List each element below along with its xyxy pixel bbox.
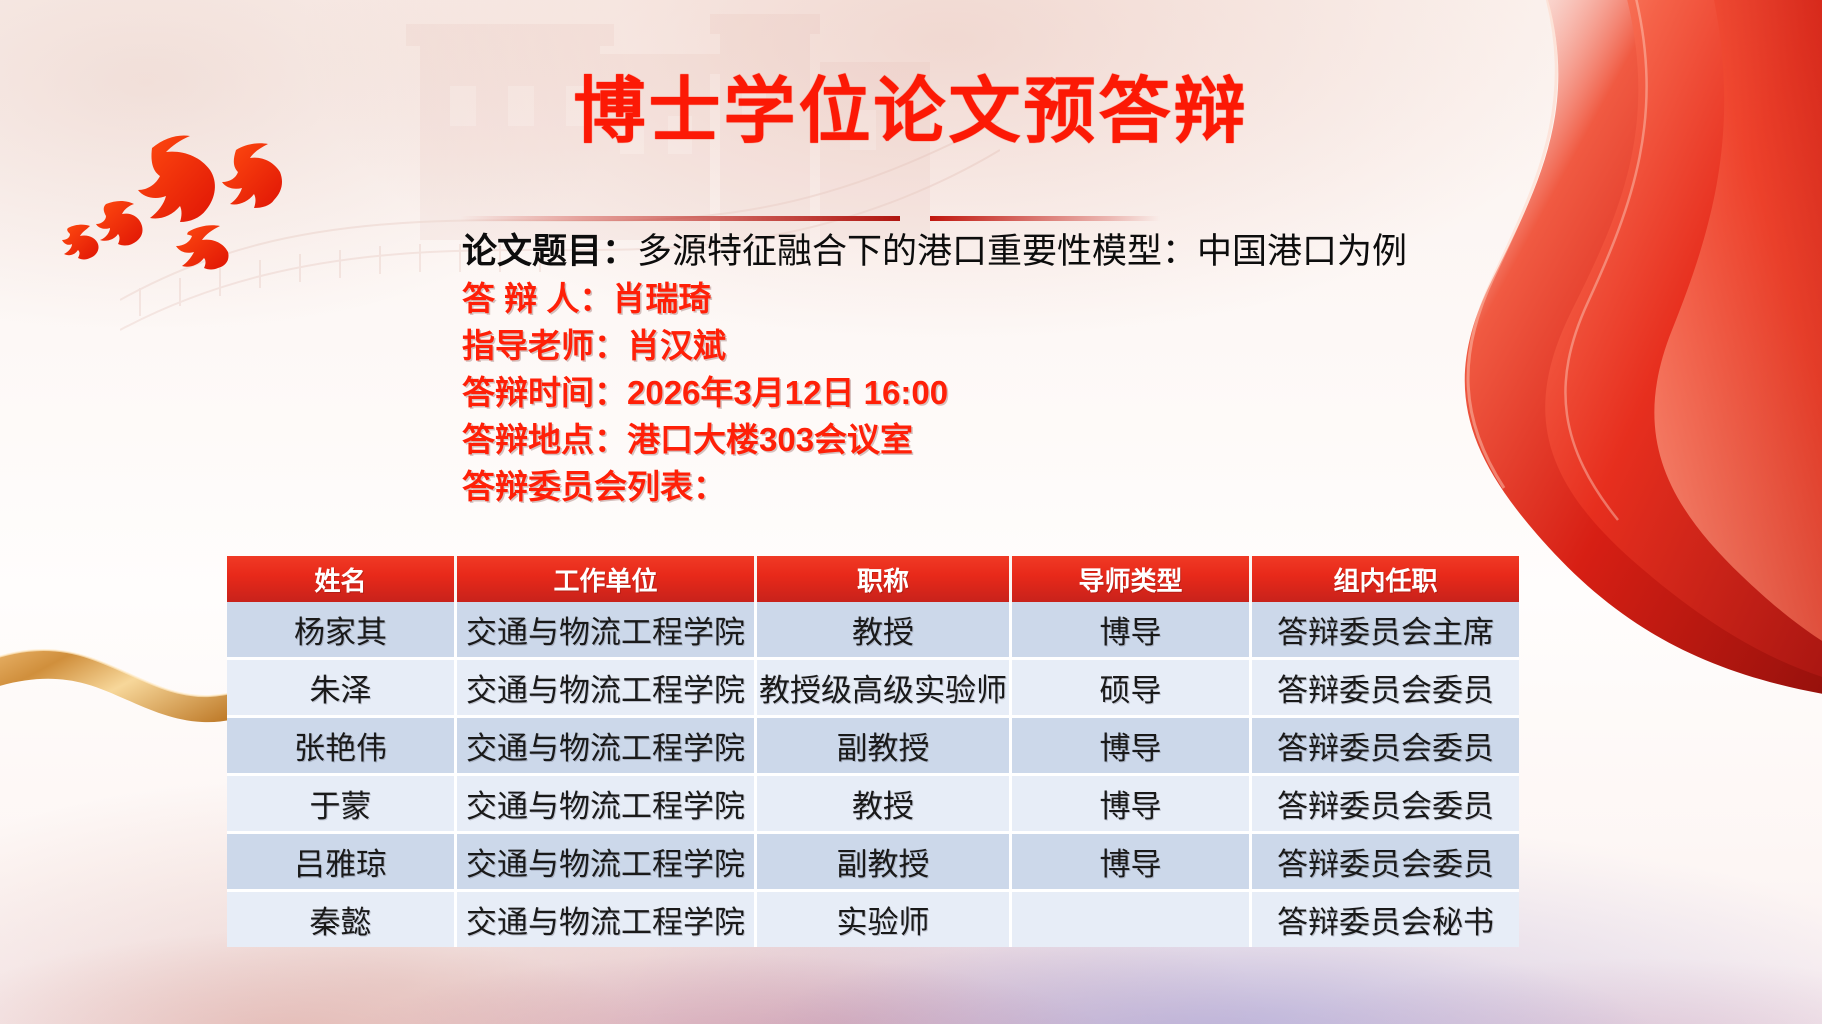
thesis-topic-label: 论文题目： [462,232,637,271]
divider-segment-left [460,216,900,221]
committee-table-body: 杨家其交通与物流工程学院教授博导答辩委员会主席朱泽交通与物流工程学院教授级高级实… [227,602,1519,947]
cell-role: 答辩委员会委员 [1252,660,1519,718]
presenter-value: 肖瑞琦 [612,280,711,317]
cell-name: 杨家其 [227,602,457,660]
cell-name: 吕雅琼 [227,834,457,892]
thesis-topic-line: 论文题目：多源特征融合下的港口重要性模型：中国港口为例 [462,228,1407,275]
table-header-row: 姓名 工作单位 职称 导师类型 组内任职 [227,556,1519,602]
defense-time-label: 答辩时间： [462,374,627,411]
table-row: 于蒙交通与物流工程学院教授博导答辩委员会委员 [227,776,1519,834]
presentation-slide: 博士学位论文预答辩 论文题目：多源特征融合下的港口重要性模型：中国港口为例 答 … [0,0,1822,1024]
cell-role: 答辩委员会秘书 [1252,892,1519,947]
defense-time-line: 答辩时间：2026年3月12日 16:00 [462,369,1407,416]
table-row: 秦懿交通与物流工程学院实验师答辩委员会秘书 [227,892,1519,947]
cell-title: 教授 [757,776,1012,834]
table-row: 朱泽交通与物流工程学院教授级高级实验师硕导答辩委员会委员 [227,660,1519,718]
cell-role: 答辩委员会委员 [1252,718,1519,776]
cell-type: 博导 [1012,776,1252,834]
cell-role: 答辩委员会委员 [1252,834,1519,892]
defense-place-line: 答辩地点：港口大楼303会议室 [462,416,1407,463]
column-header-type: 导师类型 [1012,556,1252,602]
cell-title: 教授级高级实验师 [757,660,1012,718]
cell-role: 答辩委员会委员 [1252,776,1519,834]
committee-table: 姓名 工作单位 职称 导师类型 组内任职 杨家其交通与物流工程学院教授博导答辩委… [227,556,1519,947]
column-header-title: 职称 [757,556,1012,602]
table-row: 吕雅琼交通与物流工程学院副教授博导答辩委员会委员 [227,834,1519,892]
table-row: 杨家其交通与物流工程学院教授博导答辩委员会主席 [227,602,1519,660]
cell-unit: 交通与物流工程学院 [457,834,757,892]
advisor-line: 指导老师：肖汉斌 [462,322,1407,369]
cell-title: 教授 [757,602,1012,660]
column-header-unit: 工作单位 [457,556,757,602]
thesis-topic-value: 多源特征融合下的港口重要性模型：中国港口为例 [637,232,1407,271]
cell-unit: 交通与物流工程学院 [457,602,757,660]
cell-title: 实验师 [757,892,1012,947]
cell-type: 博导 [1012,834,1252,892]
cell-name: 张艳伟 [227,718,457,776]
cell-unit: 交通与物流工程学院 [457,718,757,776]
cell-title: 副教授 [757,718,1012,776]
advisor-label: 指导老师： [462,327,627,364]
cell-unit: 交通与物流工程学院 [457,776,757,834]
cell-role: 答辩委员会主席 [1252,602,1519,660]
defense-place-label: 答辩地点： [462,421,627,458]
page-title: 博士学位论文预答辩 [0,52,1822,157]
cell-unit: 交通与物流工程学院 [457,660,757,718]
cell-type [1012,892,1252,947]
cell-title: 副教授 [757,834,1012,892]
advisor-value: 肖汉斌 [627,327,726,364]
cell-name: 朱泽 [227,660,457,718]
divider-segment-right [930,216,1160,221]
cell-name: 秦懿 [227,892,457,947]
presenter-line: 答 辩 人：肖瑞琦 [462,275,1407,322]
defense-place-value: 港口大楼303会议室 [627,421,913,458]
cell-name: 于蒙 [227,776,457,834]
decorative-divider [460,215,1160,223]
cell-unit: 交通与物流工程学院 [457,892,757,947]
presenter-label: 答 辩 人： [462,280,612,317]
column-header-role: 组内任职 [1252,556,1519,602]
cell-type: 博导 [1012,602,1252,660]
committee-list-label: 答辩委员会列表： [462,463,1407,510]
cell-type: 博导 [1012,718,1252,776]
defense-time-value: 2026年3月12日 16:00 [627,374,948,411]
cell-type: 硕导 [1012,660,1252,718]
table-row: 张艳伟交通与物流工程学院副教授博导答辩委员会委员 [227,718,1519,776]
defense-info-block: 论文题目：多源特征融合下的港口重要性模型：中国港口为例 答 辩 人：肖瑞琦 指导… [462,228,1407,510]
column-header-name: 姓名 [227,556,457,602]
